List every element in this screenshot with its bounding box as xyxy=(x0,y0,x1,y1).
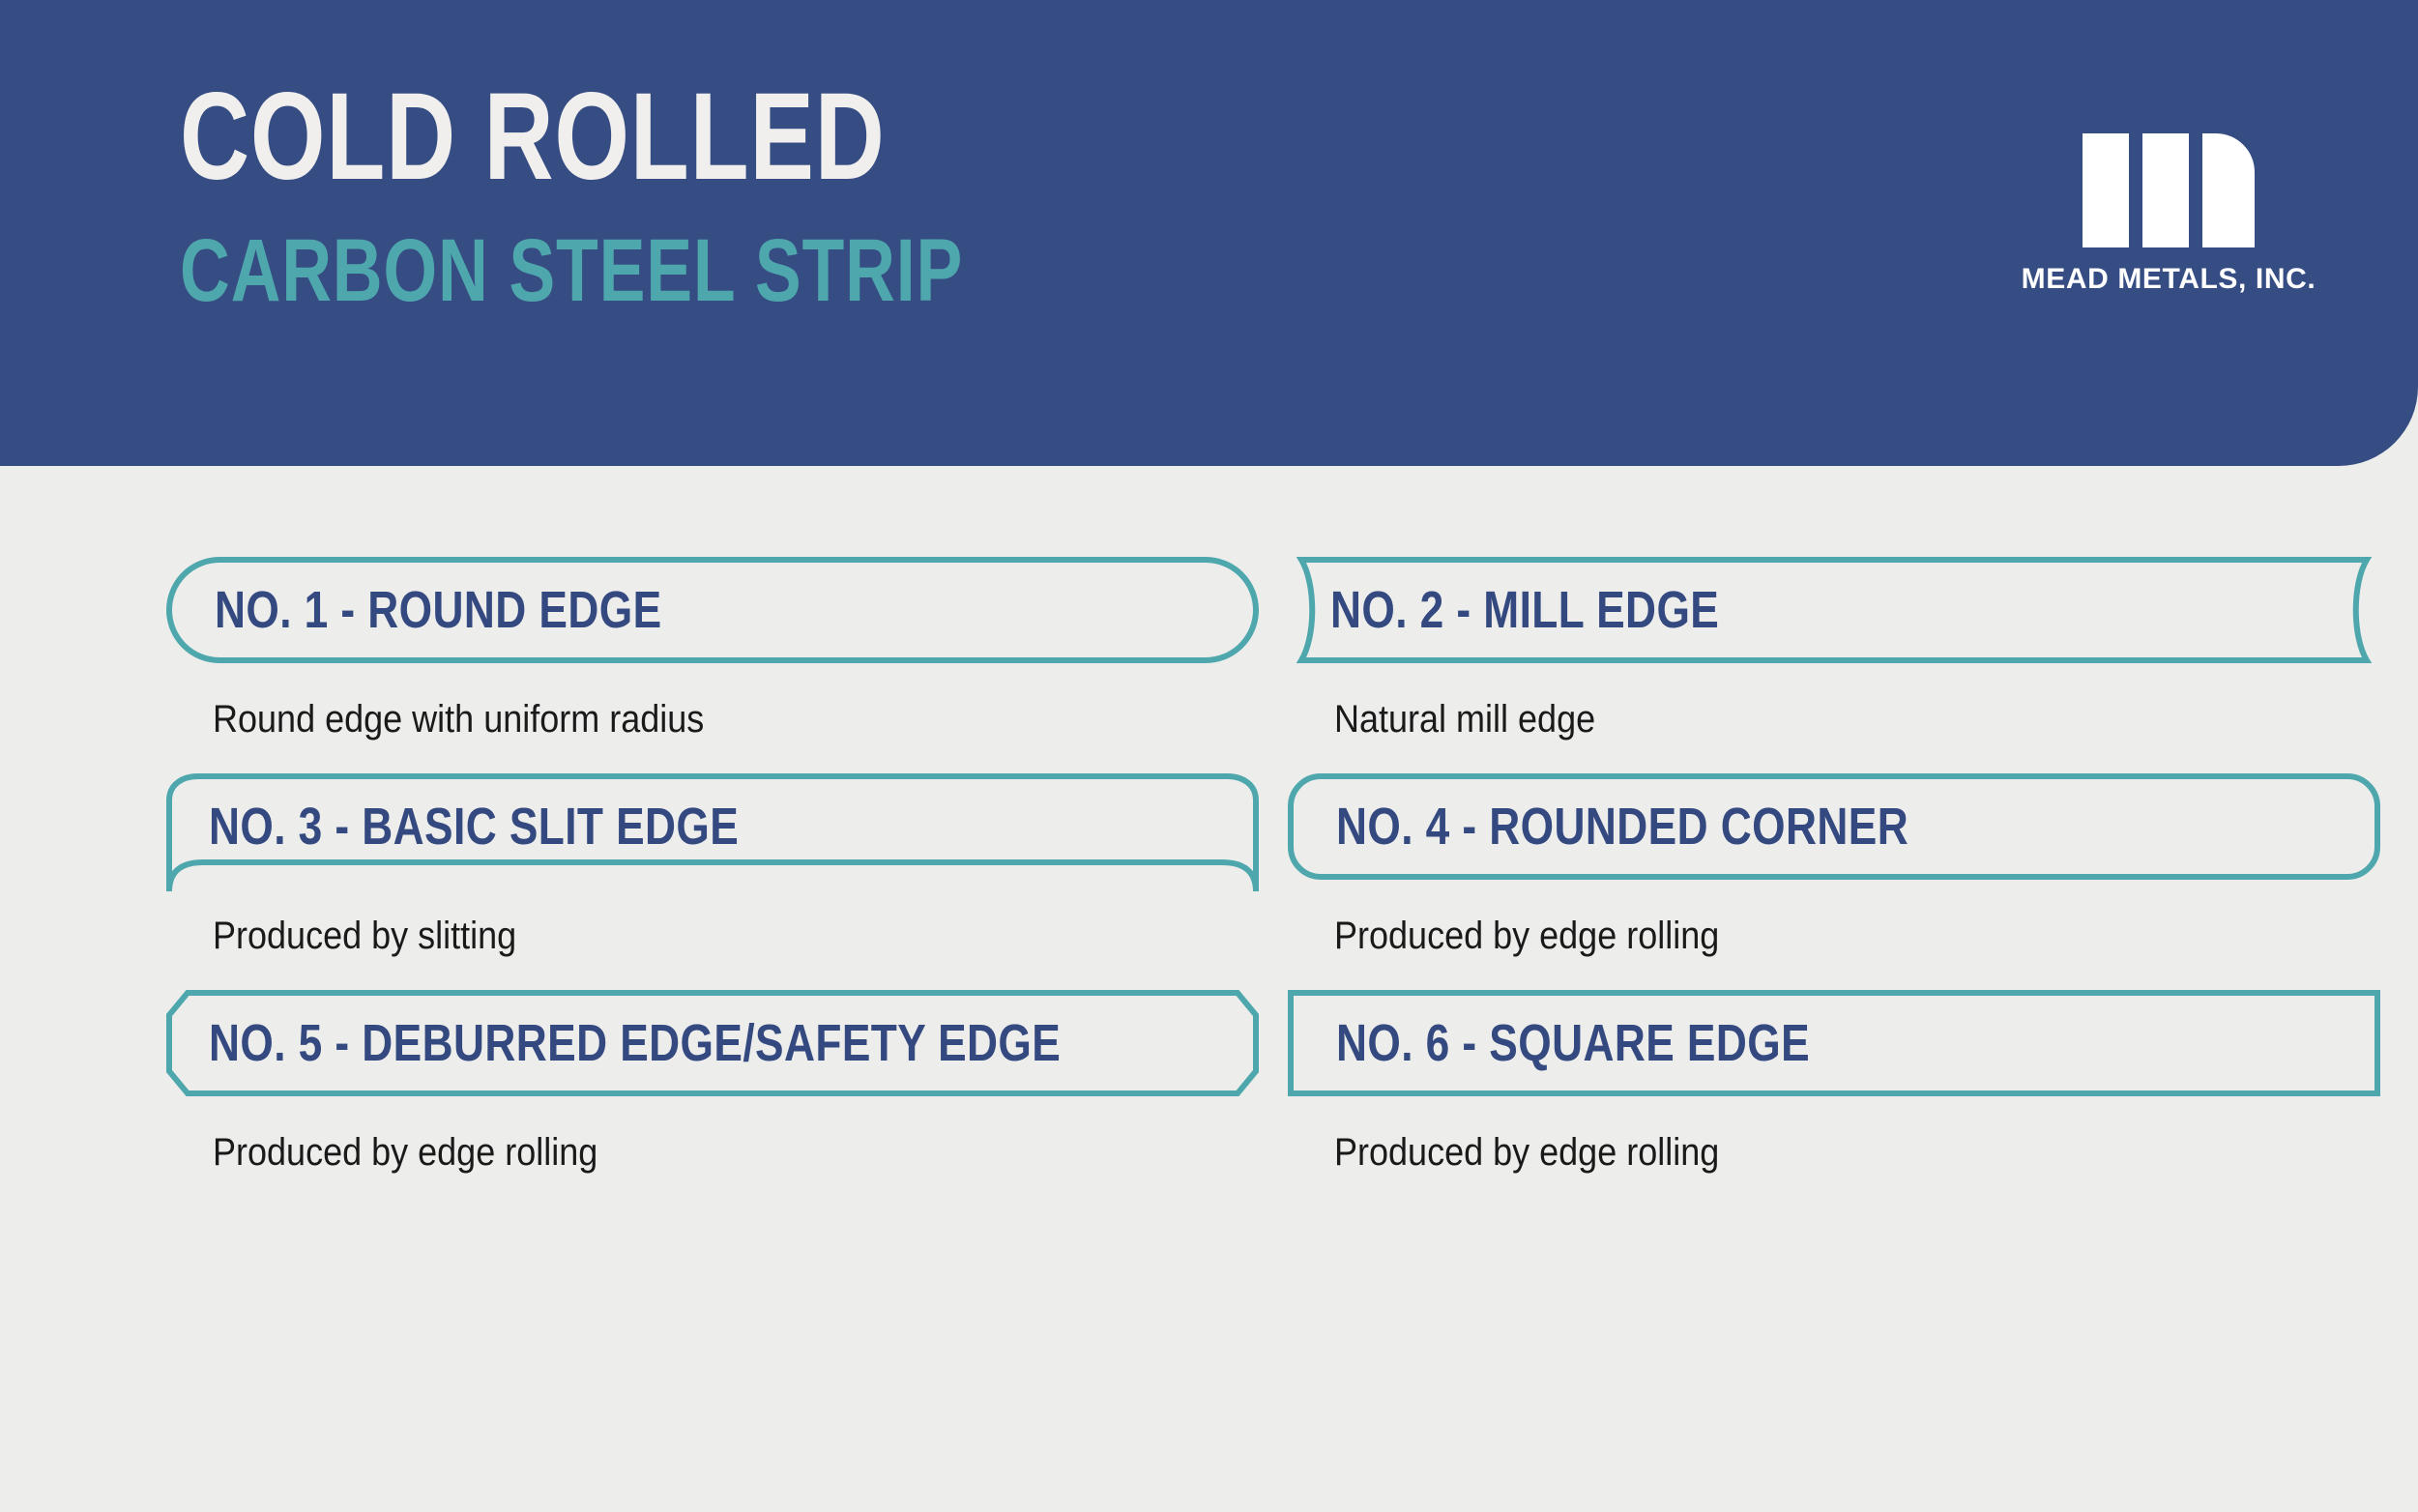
company-logo: MEAD METALS, INC. xyxy=(2014,133,2323,296)
page-subtitle: CARBON STEEL STRIP xyxy=(180,226,963,315)
title-block: COLD ROLLED CARBON STEEL STRIP xyxy=(180,75,1184,315)
edge-type-description-2: Natural mill edge xyxy=(1334,700,2380,739)
edge-type-card-5: NO. 5 - DEBURRED EDGE/SAFETY EDGE xyxy=(166,990,1259,1096)
logo-bar-2-icon xyxy=(2142,133,2189,247)
edge-type-label-1: NO. 1 - ROUND EDGE xyxy=(215,583,760,637)
edge-type-card-3: NO. 3 - BASIC SLIT EDGE xyxy=(166,773,1259,880)
edge-types-grid: NO. 1 - ROUND EDGE Round edge with unifo… xyxy=(0,557,2418,1207)
edge-type-label-6: NO. 6 - SQUARE EDGE xyxy=(1336,1016,1914,1070)
edge-type-description-6: Produced by edge rolling xyxy=(1334,1133,2380,1172)
edge-type-item-2: NO. 2 - MILL EDGE Natural mill edge xyxy=(1288,557,2380,739)
edge-type-card-1: NO. 1 - ROUND EDGE xyxy=(166,557,1259,663)
edge-type-label-2: NO. 2 - MILL EDGE xyxy=(1330,583,1805,637)
edge-type-item-4: NO. 4 - ROUNDED CORNER Produced by edge … xyxy=(1288,773,2380,955)
edge-type-description-1: Round edge with uniform radius xyxy=(213,700,1259,739)
mead-metals-logo-mark-icon xyxy=(2083,133,2255,247)
page-header: COLD ROLLED CARBON STEEL STRIP MEAD META… xyxy=(0,0,2418,466)
page-title: COLD ROLLED xyxy=(180,75,963,199)
logo-bar-1-icon xyxy=(2083,133,2129,247)
company-name: MEAD METALS, INC. xyxy=(2014,263,2323,296)
logo-bar-3-icon xyxy=(2202,133,2255,247)
edge-types-row: NO. 5 - DEBURRED EDGE/SAFETY EDGE Produc… xyxy=(0,990,2418,1172)
edge-type-card-6: NO. 6 - SQUARE EDGE xyxy=(1288,990,2380,1096)
edge-type-card-4: NO. 4 - ROUNDED CORNER xyxy=(1288,773,2380,880)
edge-type-card-2: NO. 2 - MILL EDGE xyxy=(1288,557,2380,663)
edge-type-label-3: NO. 3 - BASIC SLIT EDGE xyxy=(209,800,856,854)
edge-type-label-5: NO. 5 - DEBURRED EDGE/SAFETY EDGE xyxy=(209,1016,1248,1070)
edge-type-item-5: NO. 5 - DEBURRED EDGE/SAFETY EDGE Produc… xyxy=(166,990,1259,1172)
edge-type-label-4: NO. 4 - ROUNDED CORNER xyxy=(1336,800,2034,854)
edge-type-item-6: NO. 6 - SQUARE EDGE Produced by edge rol… xyxy=(1288,990,2380,1172)
edge-type-item-3: NO. 3 - BASIC SLIT EDGE Produced by slit… xyxy=(166,773,1259,955)
edge-type-description-3: Produced by slitting xyxy=(213,916,1259,955)
edge-types-row: NO. 3 - BASIC SLIT EDGE Produced by slit… xyxy=(0,773,2418,955)
edge-types-row: NO. 1 - ROUND EDGE Round edge with unifo… xyxy=(0,557,2418,739)
edge-type-description-5: Produced by edge rolling xyxy=(213,1133,1259,1172)
edge-type-item-1: NO. 1 - ROUND EDGE Round edge with unifo… xyxy=(166,557,1259,739)
edge-type-description-4: Produced by edge rolling xyxy=(1334,916,2380,955)
